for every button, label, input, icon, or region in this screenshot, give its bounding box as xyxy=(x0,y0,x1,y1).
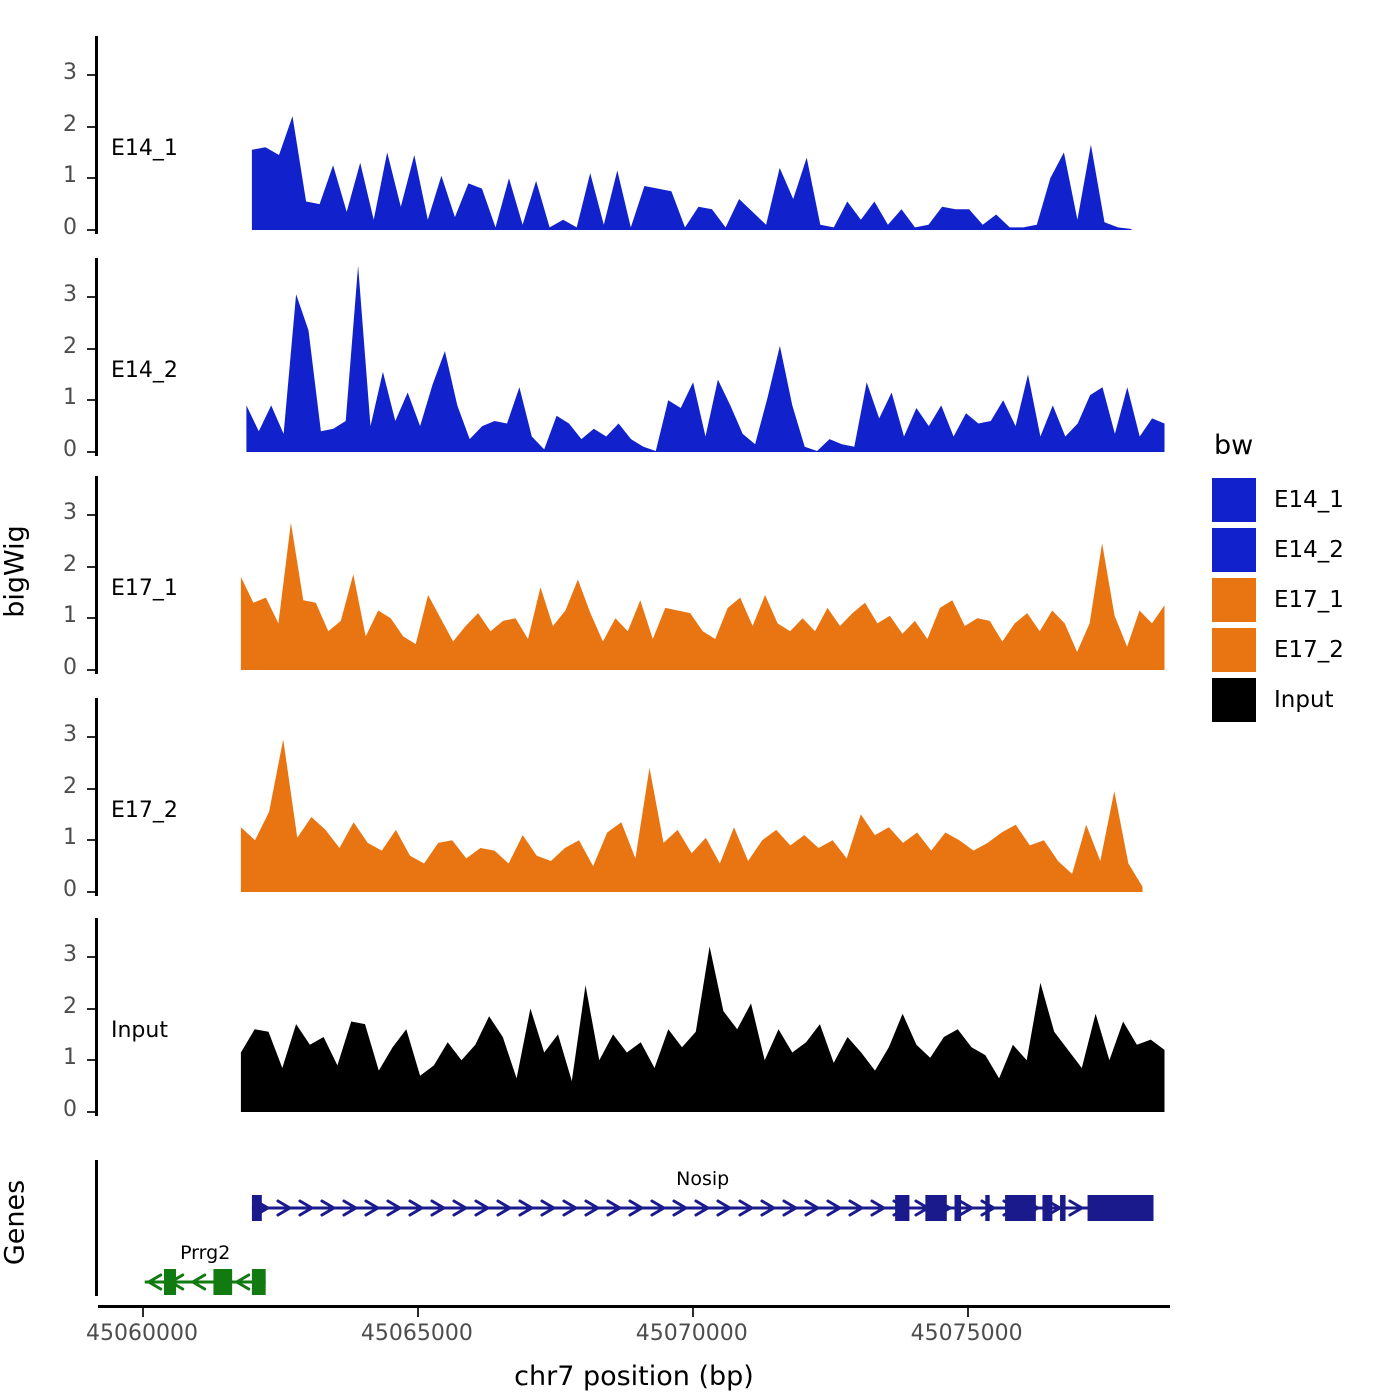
legend-swatch-e14_2 xyxy=(1212,528,1256,572)
gene-exon xyxy=(213,1269,232,1295)
track-area-e17_2 xyxy=(0,698,1200,896)
figure-root: bigWig Genes 0123E14_10123E14_20123E17_1… xyxy=(0,0,1400,1400)
genes-axis-line xyxy=(95,1160,98,1296)
legend-item-e17_2[interactable]: E17_2 xyxy=(1212,625,1344,675)
track-panel-e14_2: 0123E14_2 xyxy=(0,258,1200,458)
legend-label-e14_1: E14_1 xyxy=(1274,487,1344,513)
legend-swatch-e14_1 xyxy=(1212,478,1256,522)
track-area-e14_2 xyxy=(0,258,1200,456)
gene-track-panel: NosipPrrg2 xyxy=(0,1160,1200,1300)
gene-label-prrg2: Prrg2 xyxy=(165,1242,245,1264)
track-panel-e14_1: 0123E14_1 xyxy=(0,36,1200,236)
track-panel-input: 0123Input xyxy=(0,918,1200,1118)
legend-swatch-input xyxy=(1212,678,1256,722)
legend-item-e14_2[interactable]: E14_2 xyxy=(1212,525,1344,575)
gene-exon xyxy=(252,1195,262,1221)
x-axis-title: chr7 position (bp) xyxy=(98,1361,1170,1392)
gene-label-nosip: Nosip xyxy=(663,1168,743,1190)
gene-nosip[interactable] xyxy=(252,1195,1154,1221)
track-area-e14_1 xyxy=(0,36,1200,234)
x-tick-mark xyxy=(417,1308,419,1317)
track-panel-e17_2: 0123E17_2 xyxy=(0,698,1200,898)
legend-swatch-e17_2 xyxy=(1212,628,1256,672)
gene-exon xyxy=(955,1195,962,1221)
legend-item-e14_1[interactable]: E14_1 xyxy=(1212,475,1344,525)
legend-label-e14_2: E14_2 xyxy=(1274,537,1344,563)
gene-models xyxy=(0,1160,1200,1300)
x-tick-label: 45065000 xyxy=(317,1321,517,1346)
x-tick-label: 45070000 xyxy=(592,1321,792,1346)
gene-exon xyxy=(252,1269,266,1295)
gene-exon xyxy=(895,1195,909,1221)
gene-prrg2[interactable] xyxy=(145,1269,266,1295)
x-tick-mark xyxy=(142,1308,144,1317)
gene-exon xyxy=(1042,1195,1052,1221)
x-tick-label: 45075000 xyxy=(867,1321,1067,1346)
legend-label-input: Input xyxy=(1274,687,1334,713)
gene-exon xyxy=(1060,1195,1065,1221)
legend-title: bw xyxy=(1214,430,1344,461)
legend-item-input[interactable]: Input xyxy=(1212,675,1344,725)
x-tick-mark xyxy=(967,1308,969,1317)
legend-label-e17_2: E17_2 xyxy=(1274,637,1344,663)
legend: bw E14_1E14_2E17_1E17_2Input xyxy=(1212,430,1344,725)
gene-exon xyxy=(1005,1195,1036,1221)
track-area-e17_1 xyxy=(0,476,1200,674)
gene-exon xyxy=(985,1195,989,1221)
legend-swatch-e17_1 xyxy=(1212,578,1256,622)
gene-exon xyxy=(925,1195,946,1221)
gene-exon xyxy=(164,1269,176,1295)
x-tick-label: 45060000 xyxy=(42,1321,242,1346)
x-axis-line xyxy=(98,1305,1170,1308)
legend-item-e17_1[interactable]: E17_1 xyxy=(1212,575,1344,625)
legend-label-e17_1: E17_1 xyxy=(1274,587,1344,613)
legend-items: E14_1E14_2E17_1E17_2Input xyxy=(1212,475,1344,725)
track-panel-e17_1: 0123E17_1 xyxy=(0,476,1200,676)
x-tick-mark xyxy=(692,1308,694,1317)
track-area-input xyxy=(0,918,1200,1116)
gene-exon xyxy=(1088,1195,1154,1221)
